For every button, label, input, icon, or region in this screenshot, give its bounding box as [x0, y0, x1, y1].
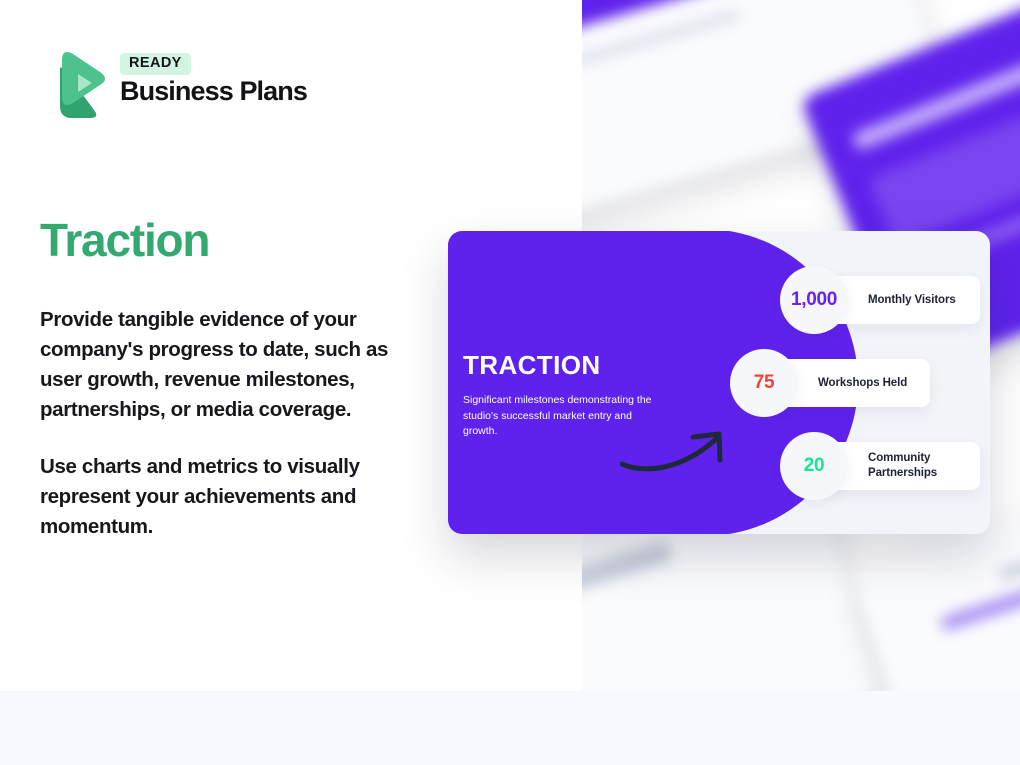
metric-circle: 1,000	[780, 266, 848, 334]
body-paragraph-2: Use charts and metrics to visually repre…	[40, 452, 422, 542]
ready-badge: READY	[120, 53, 191, 75]
body-paragraph-1: Provide tangible evidence of your compan…	[40, 305, 422, 426]
curved-arrow-up-right-icon	[620, 420, 745, 482]
deck-bar	[582, 540, 673, 593]
brand-title: Business Plans	[120, 77, 307, 107]
metric-card-community-partnerships[interactable]: Community Partnerships 20	[780, 432, 980, 500]
brand-lockup: READY Business Plans	[40, 38, 307, 122]
deck-bar	[939, 581, 1020, 631]
metric-label: Community Partnerships	[868, 451, 960, 480]
metric-circle: 20	[780, 432, 848, 500]
metric-label: Monthly Visitors	[868, 293, 956, 308]
play-triangle-logo-icon	[40, 38, 106, 122]
page-title: Traction	[40, 216, 209, 264]
slide-title: TRACTION	[463, 350, 601, 381]
brand-text: READY Business Plans	[120, 53, 307, 106]
slide-preview-page: TRACTION Significant milestones demonstr…	[0, 0, 1020, 765]
slide-purple-panel	[448, 231, 693, 534]
body-copy: Provide tangible evidence of your compan…	[40, 305, 422, 542]
metric-value: 20	[804, 455, 825, 477]
metric-value: 1,000	[791, 289, 837, 311]
deck-bar	[582, 8, 742, 83]
deck-bar	[997, 545, 1020, 581]
metric-value: 75	[754, 372, 775, 394]
metric-card-workshops-held[interactable]: Workshops Held 75	[730, 349, 930, 417]
metric-circle: 75	[730, 349, 798, 417]
metric-card-monthly-visitors[interactable]: Monthly Visitors 1,000	[780, 266, 980, 334]
bottom-strip	[0, 691, 1020, 765]
metric-label: Workshops Held	[818, 376, 907, 391]
